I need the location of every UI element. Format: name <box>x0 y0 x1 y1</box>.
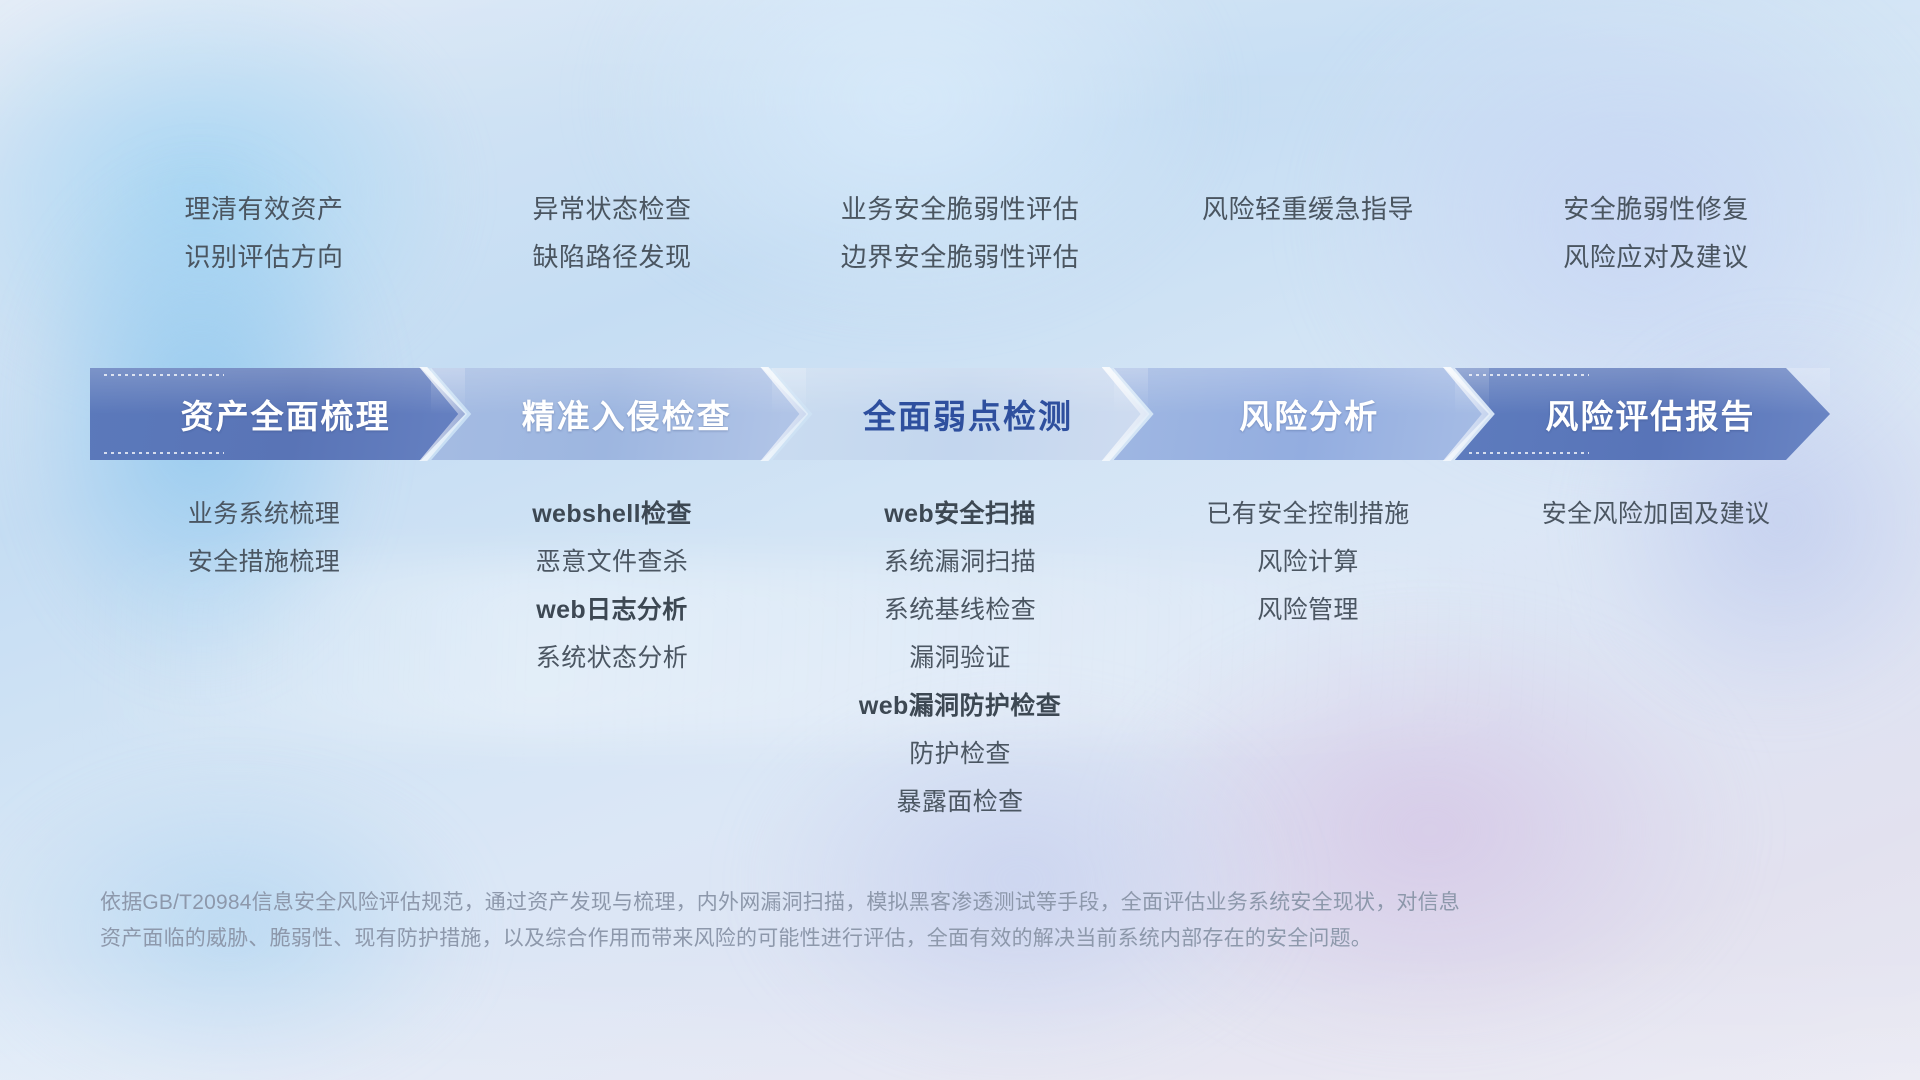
top-label: 边界安全脆弱性评估 <box>841 233 1080 281</box>
footer-line-1: 依据GB/T20984信息安全风险评估规范，通过资产发现与梳理，内外网漏洞扫描，… <box>100 885 1630 921</box>
stage-arrow-risk-report[interactable]: 风险评估报告 <box>1455 368 1830 460</box>
bottom-label: web漏洞防护检查 <box>859 682 1061 730</box>
bottom-label: 漏洞验证 <box>909 634 1011 682</box>
bottom-labels-stage-5: 安全风险加固及建议 <box>1482 490 1830 538</box>
bottom-label: 风险管理 <box>1257 586 1359 634</box>
bottom-labels-stage-3: web安全扫描 系统漏洞扫描 系统基线检查 漏洞验证 web漏洞防护检查 防护检… <box>786 490 1134 826</box>
top-label: 风险轻重缓急指导 <box>1202 185 1414 233</box>
stage-arrow-title: 全面弱点检测 <box>847 390 1073 438</box>
top-label: 风险应对及建议 <box>1563 233 1749 281</box>
bottom-label: webshell检查 <box>532 490 692 538</box>
footer-description: 依据GB/T20984信息安全风险评估规范，通过资产发现与梳理，内外网漏洞扫描，… <box>100 885 1630 957</box>
top-label: 异常状态检查 <box>532 185 691 233</box>
top-labels-stage-4: 风险轻重缓急指导 <box>1134 185 1482 233</box>
bottom-labels-stage-4: 已有安全控制措施 风险计算 风险管理 <box>1134 490 1482 634</box>
top-labels-row: 理清有效资产 识别评估方向 异常状态检查 缺陷路径发现 业务安全脆弱性评估 边界… <box>90 185 1830 285</box>
bottom-label: 暴露面检查 <box>896 778 1023 826</box>
top-label: 识别评估方向 <box>184 233 343 281</box>
footer-line-2: 资产面临的威胁、脆弱性、现有防护措施，以及综合作用而带来风险的可能性进行评估，全… <box>100 921 1630 957</box>
bottom-labels-row: 业务系统梳理 安全措施梳理 webshell检查 恶意文件查杀 web日志分析 … <box>90 490 1830 826</box>
bottom-label: 系统状态分析 <box>536 634 688 682</box>
stage-arrow-title: 风险分析 <box>1223 390 1379 438</box>
bottom-label: 安全风险加固及建议 <box>1542 490 1771 538</box>
bottom-label: 已有安全控制措施 <box>1206 490 1409 538</box>
bottom-label: 恶意文件查杀 <box>536 538 688 586</box>
bottom-label: 业务系统梳理 <box>188 490 340 538</box>
top-label: 理清有效资产 <box>184 185 343 233</box>
stage-arrow-asset-inventory[interactable]: 资产全面梳理 <box>90 368 465 460</box>
bottom-label: 安全措施梳理 <box>188 538 340 586</box>
stage-arrow-weakness-detection[interactable]: 全面弱点检测 <box>772 368 1147 460</box>
stage-arrow-risk-analysis[interactable]: 风险分析 <box>1114 368 1489 460</box>
stage-arrow-title: 精准入侵检查 <box>506 390 732 438</box>
top-label: 业务安全脆弱性评估 <box>841 185 1080 233</box>
bottom-label: 系统漏洞扫描 <box>884 538 1036 586</box>
stage-arrow-title: 资产全面梳理 <box>165 390 391 438</box>
stage-arrow-band: 资产全面梳理 精准入侵检查 全面弱点检测 风险分析 风险评估报告 <box>90 368 1830 460</box>
top-labels-stage-5: 安全脆弱性修复 风险应对及建议 <box>1482 185 1830 281</box>
bottom-labels-stage-1: 业务系统梳理 安全措施梳理 <box>90 490 438 586</box>
bottom-label: 系统基线检查 <box>884 586 1036 634</box>
top-labels-stage-1: 理清有效资产 识别评估方向 <box>90 185 438 281</box>
top-labels-stage-2: 异常状态检查 缺陷路径发现 <box>438 185 786 281</box>
stage-arrow-intrusion-check[interactable]: 精准入侵检查 <box>431 368 806 460</box>
bottom-label: 风险计算 <box>1257 538 1359 586</box>
stage-arrow-title: 风险评估报告 <box>1529 390 1755 438</box>
top-label: 缺陷路径发现 <box>532 233 691 281</box>
bottom-label: web日志分析 <box>536 586 687 634</box>
bottom-labels-stage-2: webshell检查 恶意文件查杀 web日志分析 系统状态分析 <box>438 490 786 682</box>
top-labels-stage-3: 业务安全脆弱性评估 边界安全脆弱性评估 <box>786 185 1134 281</box>
bottom-label: web安全扫描 <box>884 490 1035 538</box>
top-label: 安全脆弱性修复 <box>1563 185 1749 233</box>
bottom-label: 防护检查 <box>909 730 1011 778</box>
process-diagram: 理清有效资产 识别评估方向 异常状态检查 缺陷路径发现 业务安全脆弱性评估 边界… <box>0 0 1920 1080</box>
